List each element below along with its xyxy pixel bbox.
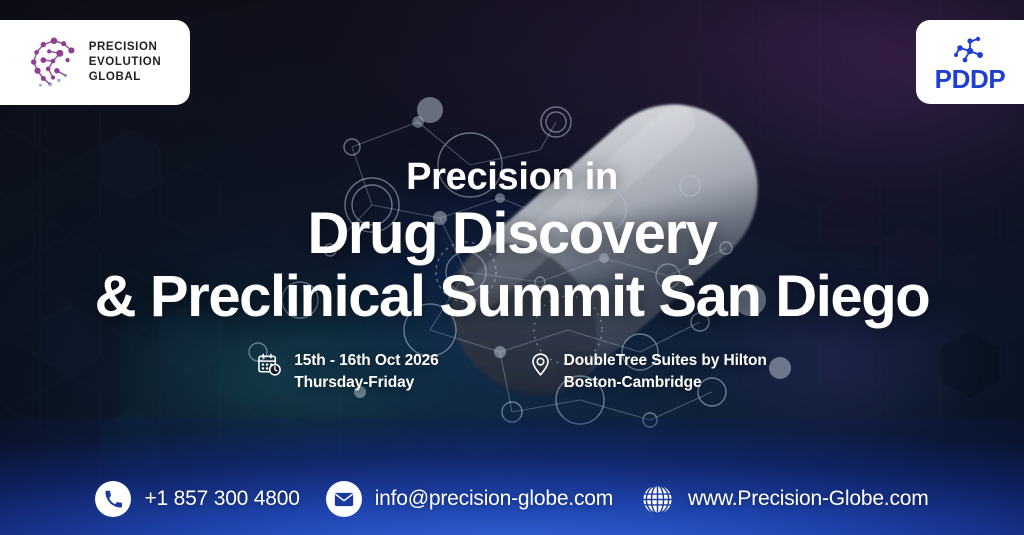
logo-line-1: PRECISION [89, 41, 158, 53]
logo-line-3: GLOBAL [89, 71, 141, 83]
contact-items: +1 857 300 4800 info@precision-globe.com [0, 481, 1024, 517]
contact-website[interactable]: www.Precision-Globe.com [639, 481, 928, 517]
headline-line-1: Drug Discovery [0, 202, 1024, 267]
pddp-wordmark: PDDP [935, 66, 1006, 92]
molecular-sphere-icon [25, 34, 83, 92]
event-date-line-1: 15th - 16th Oct 2026 [294, 352, 438, 369]
event-venue-text: DoubleTree Suites by Hilton Boston-Cambr… [564, 350, 767, 394]
contact-website-text: www.Precision-Globe.com [688, 487, 928, 511]
molecule-node-icon [950, 35, 990, 65]
headline-line-2: & Preclinical Summit San Diego [0, 265, 1024, 330]
headline-block: Precision in Drug Discovery & Preclinica… [0, 158, 1024, 330]
globe-icon [639, 481, 675, 517]
event-date-block: 15th - 16th Oct 2026 Thursday-Friday [257, 350, 438, 394]
event-venue-line-1: DoubleTree Suites by Hilton [564, 352, 767, 369]
logo-line-2: EVOLUTION [89, 56, 162, 68]
headline-kicker: Precision in [0, 158, 1024, 198]
map-pin-icon [529, 352, 552, 382]
contact-email-text: info@precision-globe.com [375, 487, 613, 511]
contact-bar: +1 857 300 4800 info@precision-globe.com [0, 417, 1024, 535]
envelope-icon [326, 481, 362, 517]
event-venue-block: DoubleTree Suites by Hilton Boston-Cambr… [529, 350, 767, 394]
event-meta-row: 15th - 16th Oct 2026 Thursday-Friday Dou… [0, 350, 1024, 394]
precision-evolution-global-logo[interactable]: PRECISION EVOLUTION GLOBAL [0, 20, 190, 105]
phone-icon [95, 481, 131, 517]
contact-phone[interactable]: +1 857 300 4800 [95, 481, 299, 517]
logo-wordmark: PRECISION EVOLUTION GLOBAL [89, 40, 162, 84]
event-date-line-2: Thursday-Friday [294, 374, 414, 391]
event-date-text: 15th - 16th Oct 2026 Thursday-Friday [294, 350, 438, 394]
calendar-clock-icon [257, 352, 282, 382]
contact-email[interactable]: info@precision-globe.com [326, 481, 613, 517]
event-banner: PRECISION EVOLUTION GLOBAL PDDP [0, 0, 1024, 535]
contact-phone-text: +1 857 300 4800 [144, 487, 299, 511]
event-venue-line-2: Boston-Cambridge [564, 374, 702, 391]
pddp-logo[interactable]: PDDP [916, 20, 1024, 104]
